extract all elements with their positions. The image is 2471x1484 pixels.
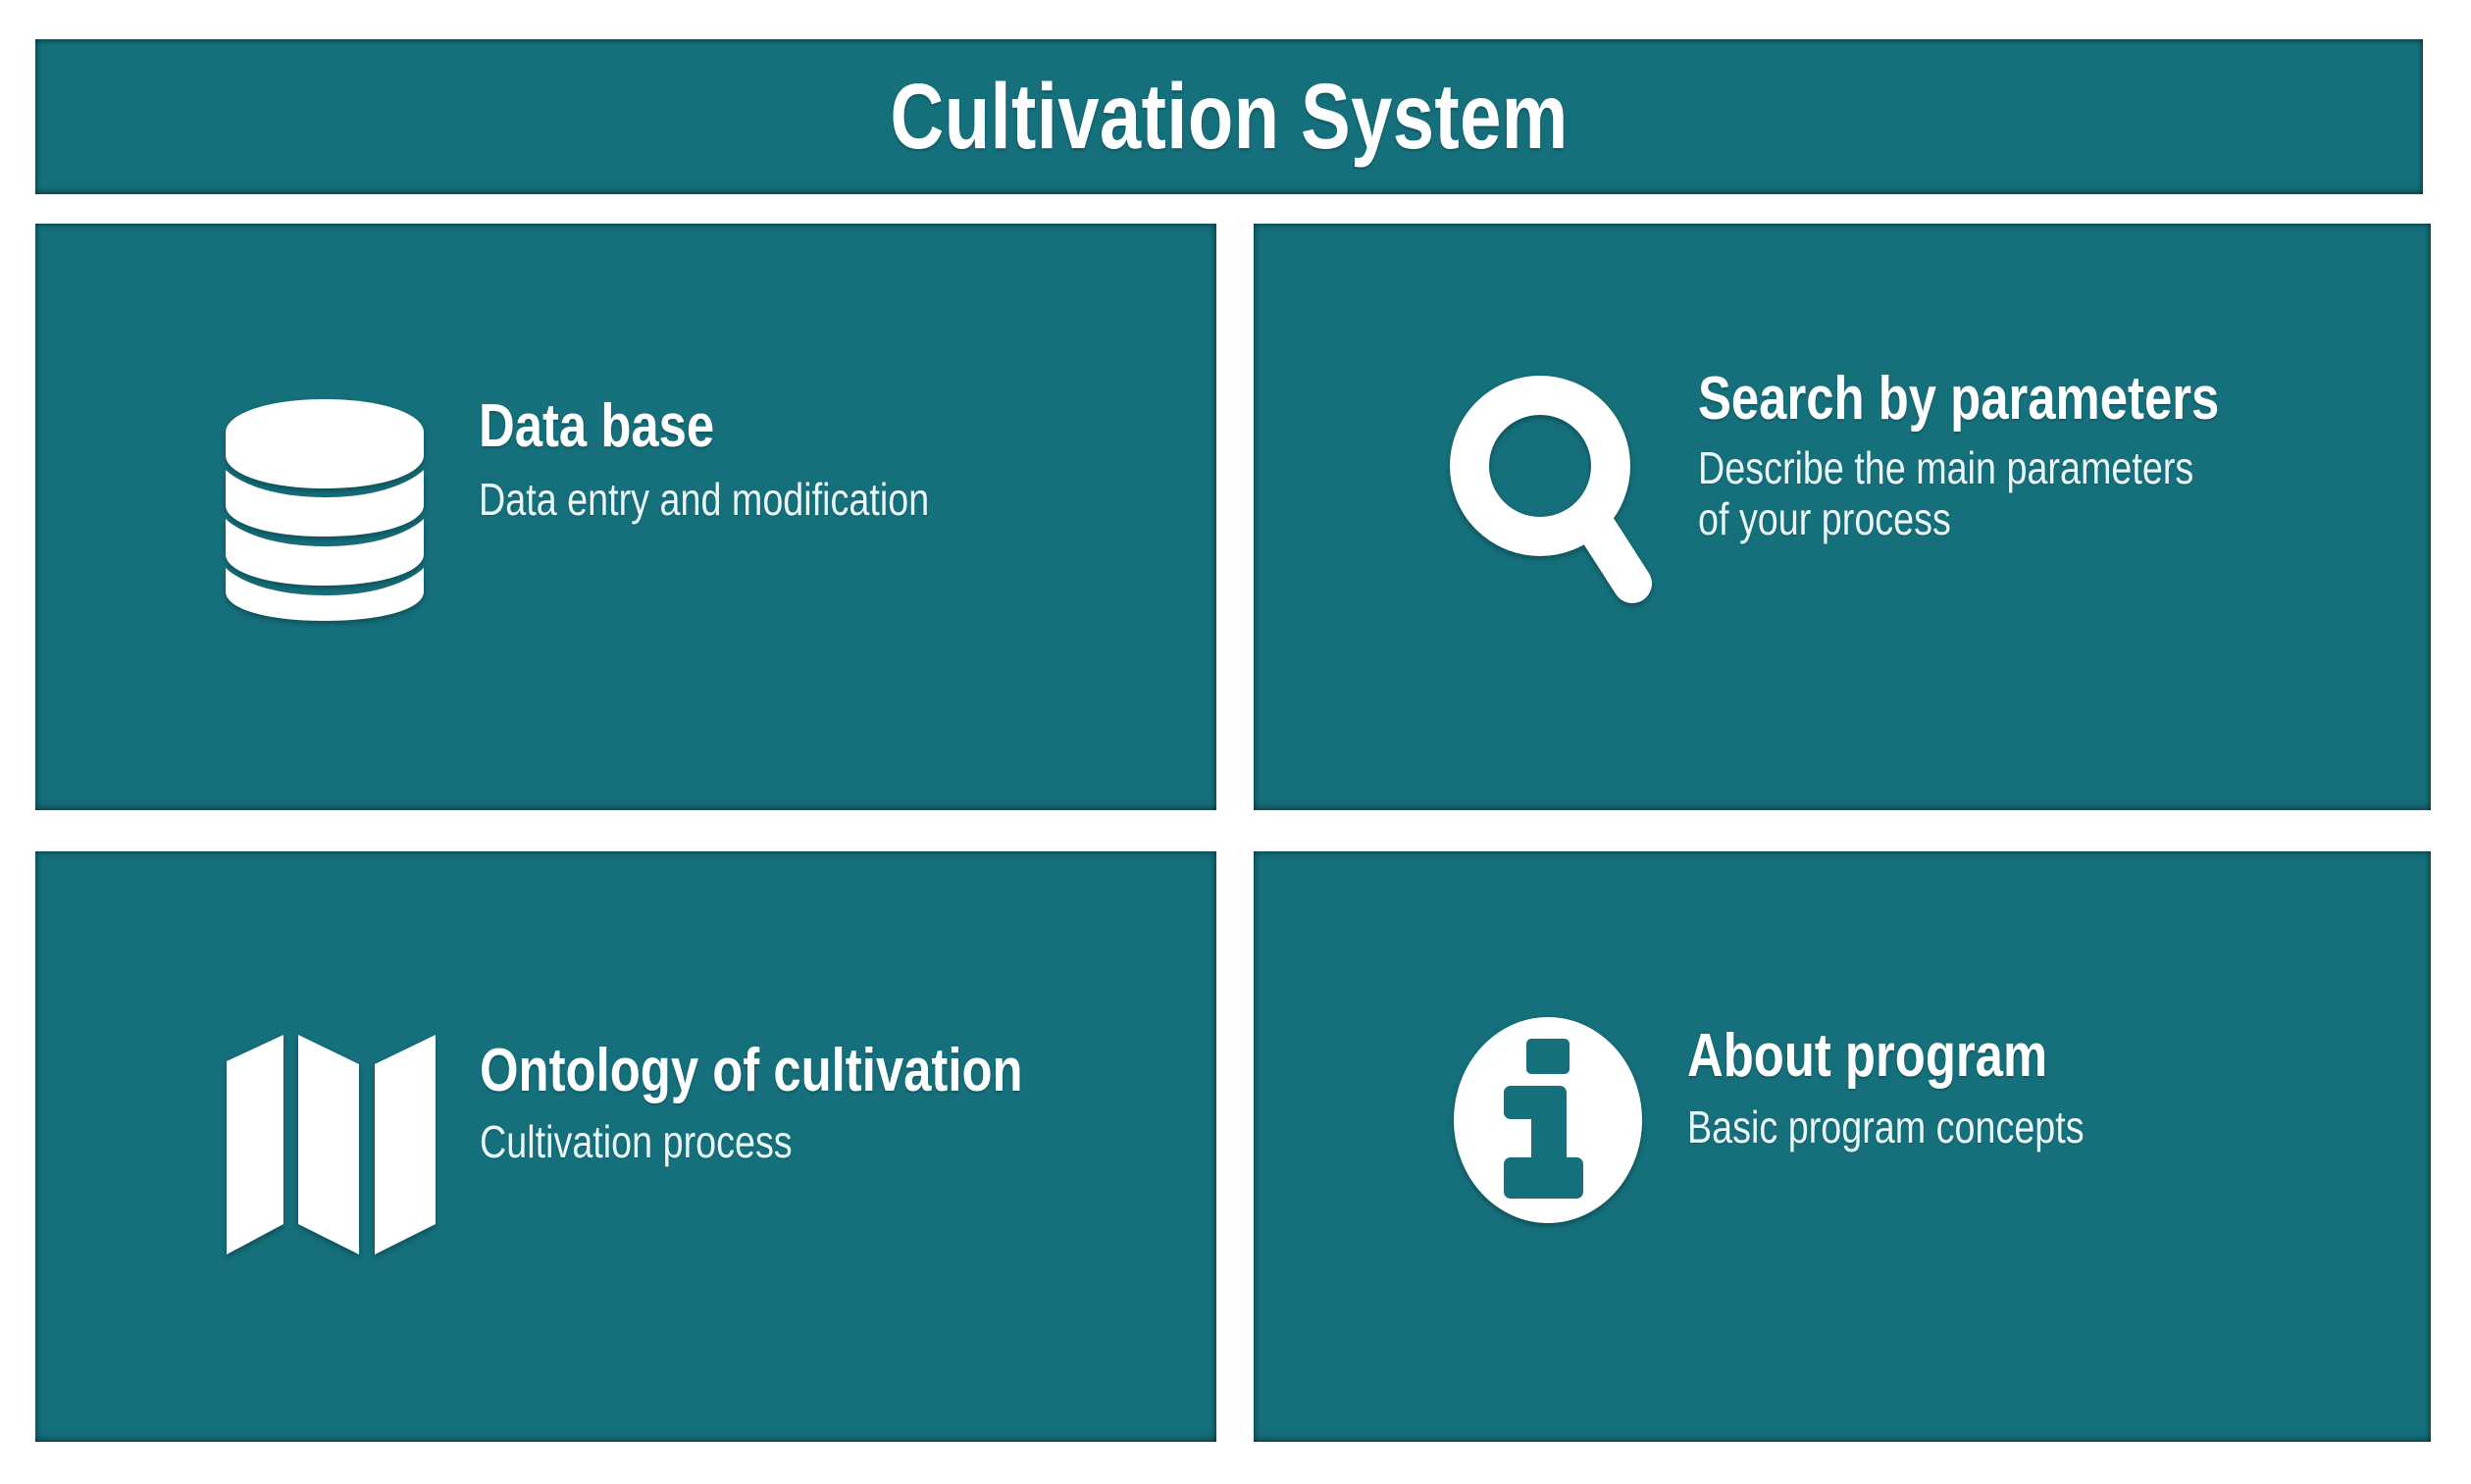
tile-search-by-parameters[interactable]: Search by parameters Describe the main p…: [1254, 224, 2431, 810]
tile-search-subtitle: Describe the main parameters of your pro…: [1698, 443, 2219, 544]
tile-database-content: Data base Data entry and modification: [222, 385, 1028, 623]
tile-ontology-content: Ontology of cultivation Cultivation proc…: [222, 1018, 1142, 1260]
app-header-bar: Cultivation System: [35, 39, 2423, 194]
tile-ontology-subtitle-line-1: Cultivation process: [480, 1117, 1023, 1168]
tile-database-subtitle-line-1: Data entry and modification: [479, 475, 929, 526]
tile-about-text: About program Basic program concepts: [1687, 1003, 2171, 1153]
tile-about-content: About program Basic program concepts: [1450, 1003, 2171, 1226]
tile-database-text: Data base Data entry and modification: [479, 385, 1028, 526]
tile-about-subtitle-line-1: Basic program concepts: [1687, 1102, 2085, 1153]
cultivation-system-main-menu: Cultivation System Data base Data entry …: [0, 0, 2471, 1484]
tile-about-program[interactable]: About program Basic program concepts: [1254, 851, 2431, 1442]
tile-ontology-subtitle: Cultivation process: [480, 1117, 1023, 1168]
app-title: Cultivation System: [890, 71, 1568, 164]
tile-search-subtitle-line-1: Describe the main parameters: [1698, 443, 2219, 494]
tile-search-text: Search by parameters Describe the main p…: [1698, 366, 2334, 544]
tile-ontology-title: Ontology of cultivation: [480, 1040, 1023, 1101]
info-circle-icon: [1450, 1015, 1646, 1226]
tile-database[interactable]: Data base Data entry and modification: [35, 224, 1216, 810]
tile-about-subtitle: Basic program concepts: [1687, 1102, 2085, 1153]
tile-database-title: Data base: [479, 395, 929, 457]
database-icon: [222, 397, 428, 623]
tile-about-title: About program: [1687, 1025, 2085, 1087]
tile-search-subtitle-line-2: of your process: [1698, 494, 2219, 545]
tile-ontology-text: Ontology of cultivation Cultivation proc…: [480, 1018, 1142, 1168]
tile-search-content: Search by parameters Describe the main p…: [1450, 366, 2334, 616]
map-icon: [222, 1030, 442, 1260]
magnifier-icon: [1450, 376, 1661, 616]
tile-database-subtitle: Data entry and modification: [479, 475, 929, 526]
tile-ontology-of-cultivation[interactable]: Ontology of cultivation Cultivation proc…: [35, 851, 1216, 1442]
tile-search-title: Search by parameters: [1698, 368, 2219, 430]
